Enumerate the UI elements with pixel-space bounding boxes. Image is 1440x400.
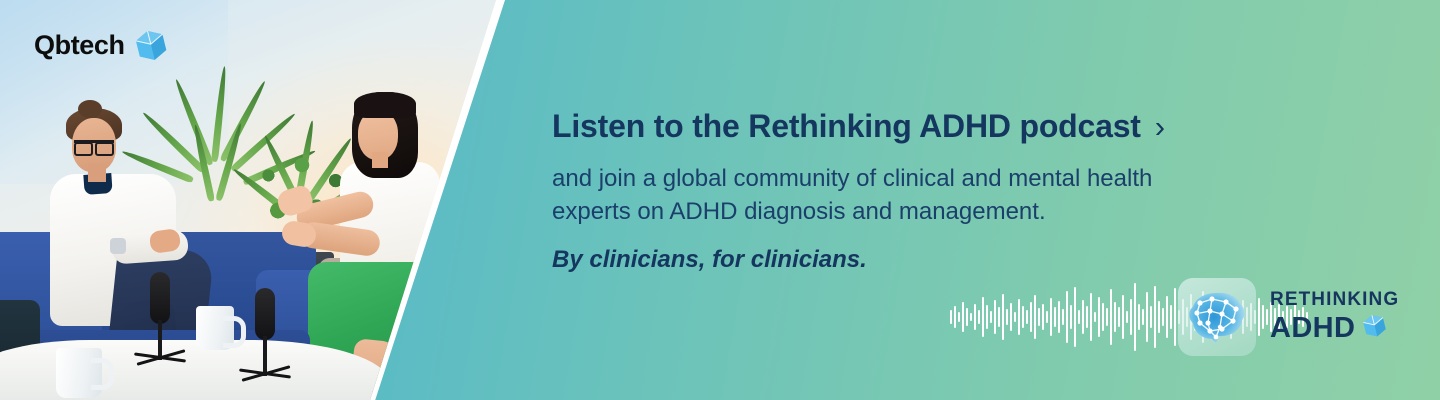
subline-line-2: experts on ADHD diagnosis and management… [552, 196, 1322, 229]
waveform-bar [1054, 307, 1056, 327]
waveform-bar [1098, 297, 1100, 337]
waveform-bar [1102, 303, 1104, 331]
waveform-bar [1150, 306, 1152, 328]
waveform-bar [1114, 302, 1116, 332]
waveform-bar [958, 312, 960, 322]
waveform-bar [1090, 293, 1092, 341]
waveform-bar [1066, 291, 1068, 343]
waveform-bar [982, 297, 984, 337]
waveform-bar [1050, 298, 1052, 336]
subline-line-1: and join a global community of clinical … [552, 163, 1322, 196]
waveform-bar [1158, 301, 1160, 333]
waveform-bar [950, 310, 952, 324]
chevron-right-icon: › [1155, 109, 1165, 145]
waveform-bar [978, 310, 980, 324]
glasses-icon [74, 140, 114, 152]
waveform-bar [1062, 309, 1064, 325]
badge-title-bottom-row: ADHD [1270, 313, 1399, 344]
waveform-bar [1110, 289, 1112, 345]
wristwatch-icon [110, 238, 126, 254]
waveform-bar [954, 306, 956, 328]
waveform-bar [1106, 308, 1108, 326]
person-two-fringe [354, 92, 416, 118]
qbtech-logo-text: Qbtech [34, 32, 125, 59]
person-one-neck [88, 164, 106, 182]
rethinking-adhd-badge[interactable]: RETHINKING ADHD [1178, 278, 1399, 356]
coffee-mug-front-icon [56, 348, 102, 398]
audio-waveform-icon [950, 280, 1160, 354]
waveform-bar [1162, 308, 1164, 326]
waveform-bar [1146, 292, 1148, 342]
waveform-bar [962, 302, 964, 332]
coffee-mug-icon [196, 306, 234, 350]
cube-icon-badge [1362, 313, 1387, 344]
waveform-bar [1074, 287, 1076, 347]
waveform-bar [990, 311, 992, 323]
waveform-bar [974, 304, 976, 330]
waveform-bar [1022, 306, 1024, 328]
waveform-bar [994, 300, 996, 334]
waveform-bar [986, 305, 988, 329]
waveform-bar [970, 313, 972, 321]
badge-title-top: RETHINKING [1270, 290, 1399, 309]
page-title: Listen to the Rethinking ADHD podcast [552, 108, 1141, 145]
waveform-bar [1038, 308, 1040, 326]
waveform-bar [1042, 304, 1044, 330]
waveform-bar [1170, 305, 1172, 329]
waveform-bar [1118, 307, 1120, 327]
waveform-bar [1130, 299, 1132, 335]
waveform-bar [1078, 310, 1080, 324]
waveform-bar [1174, 288, 1176, 346]
cube-icon [134, 28, 168, 62]
waveform-bar [1126, 311, 1128, 323]
badge-title-bottom: ADHD [1270, 314, 1355, 343]
waveform-bar [1070, 305, 1072, 329]
waveform-bar [1166, 296, 1168, 338]
waveform-bar [966, 308, 968, 326]
waveform-bar [1086, 306, 1088, 328]
qbtech-logo[interactable]: Qbtech [34, 28, 168, 62]
waveform-bar [1006, 309, 1008, 325]
rethinking-adhd-banner: Qbtech Listen to the Rethinking ADHD pod… [0, 0, 1440, 400]
waveform-bar [1030, 302, 1032, 332]
waveform-bar [1142, 309, 1144, 325]
person-one-hair-bun [78, 100, 102, 118]
waveform-bar [1014, 312, 1016, 322]
brain-network-tile [1178, 278, 1256, 356]
waveform-bar [1122, 295, 1124, 339]
waveform-bar [1082, 300, 1084, 334]
waveform-bar [1138, 304, 1140, 330]
podcast-headline-link[interactable]: Listen to the Rethinking ADHD podcast › [552, 108, 1165, 145]
waveform-bar [1046, 311, 1048, 323]
waveform-bar [1154, 286, 1156, 348]
waveform-bar [1002, 294, 1004, 340]
banner-subline: and join a global community of clinical … [552, 163, 1322, 229]
waveform-bar [1094, 312, 1096, 322]
badge-text: RETHINKING ADHD [1270, 290, 1399, 344]
waveform-bar [1026, 310, 1028, 324]
waveform-bar [1010, 303, 1012, 331]
waveform-bar [1018, 299, 1020, 335]
brain-network-icon [1186, 289, 1248, 345]
waveform-bar [1058, 301, 1060, 333]
waveform-bar [998, 307, 1000, 327]
banner-tagline: By clinicians, for clinicians. [552, 246, 867, 274]
waveform-bar [1134, 283, 1136, 351]
person-two-neck [372, 152, 388, 168]
waveform-bar [1034, 295, 1036, 339]
